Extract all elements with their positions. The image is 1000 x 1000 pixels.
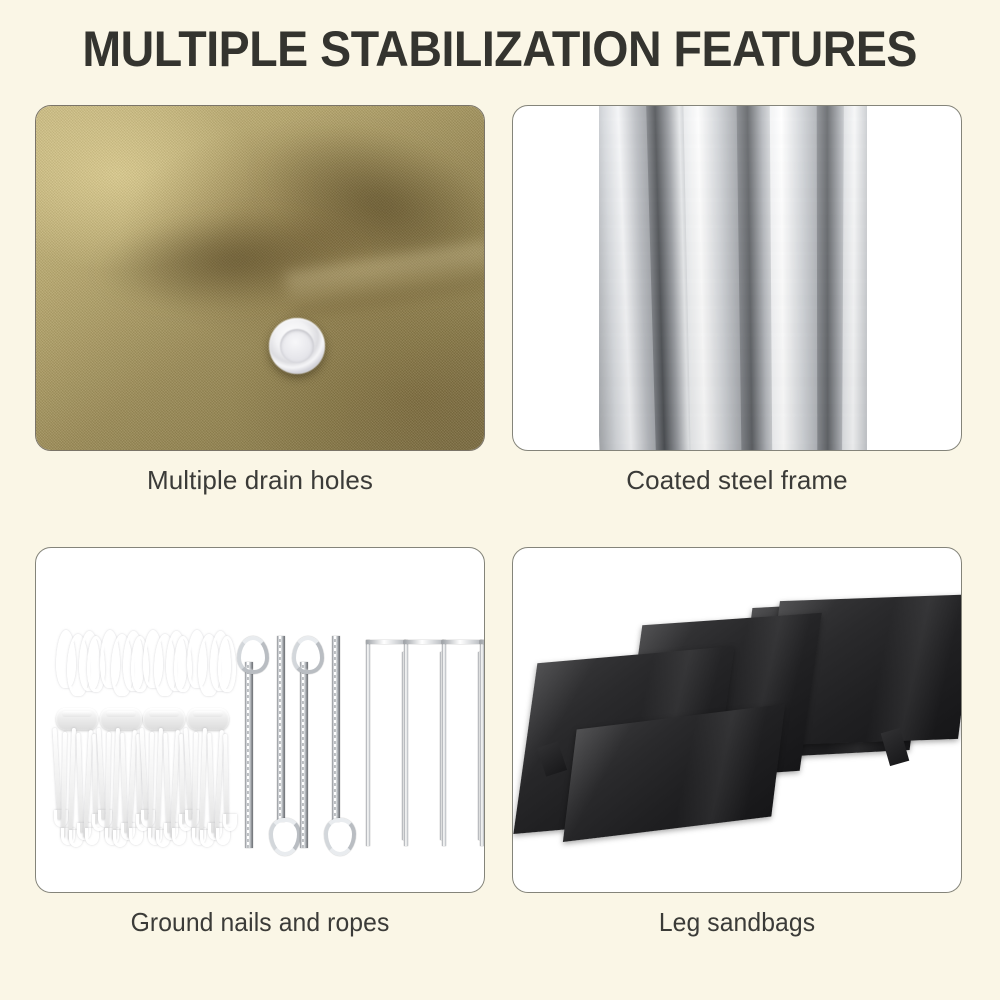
peg-top-bend [404, 640, 444, 644]
rope-strands [185, 728, 231, 846]
rope-knot [100, 708, 142, 730]
feature-cell-ground-nails-ropes: Ground nails and ropes [35, 547, 485, 938]
peg-top-bend [442, 640, 482, 644]
feature-cell-steel-frame: Coated steel frame [512, 105, 962, 496]
wire-peg [480, 640, 485, 846]
caption-drain-holes: Multiple drain holes [35, 465, 485, 496]
stake-eyelet [324, 818, 356, 856]
ground-stake [291, 636, 317, 848]
rope-bundle [185, 630, 231, 850]
rope-loops [54, 630, 100, 710]
rope-bundle [54, 630, 100, 850]
stake-shaft [277, 636, 285, 822]
wire-peg [404, 640, 444, 846]
caption-leg-sandbags: Leg sandbags [523, 907, 951, 938]
page-title: MULTIPLE STABILIZATION FEATURES [83, 20, 918, 78]
peg-top-bend [366, 640, 406, 644]
peg-long-leg [366, 640, 370, 846]
hardware-kit-group [36, 548, 484, 892]
feature-grid: Multiple drain holes Coated steel frame … [0, 100, 1000, 1000]
stake-shaft [332, 636, 340, 822]
stake-eyelet [237, 636, 269, 674]
peg-long-leg [404, 640, 408, 846]
steel-frame-photo [512, 105, 962, 451]
rope-knot [143, 708, 185, 730]
page-title-bar: MULTIPLE STABILIZATION FEATURES [0, 20, 1000, 78]
wire-peg [442, 640, 482, 846]
rope-knot [56, 708, 98, 730]
ground-stake [323, 636, 349, 848]
rope-strands [141, 728, 187, 846]
rope-loops [185, 630, 231, 710]
rope-strands [54, 728, 100, 846]
peg-long-leg [480, 640, 484, 846]
rope-bundle [98, 630, 144, 850]
ground-stake [236, 636, 262, 848]
feature-cell-leg-sandbags: Leg sandbags [512, 547, 962, 938]
peg-long-leg [442, 640, 446, 846]
caption-ground-nails-ropes: Ground nails and ropes [46, 907, 474, 938]
drain-grommet-icon [269, 318, 325, 374]
rope-strands [98, 728, 144, 846]
rope-loops [141, 630, 187, 710]
feature-cell-drain-holes: Multiple drain holes [35, 105, 485, 496]
stake-shaft [245, 662, 253, 848]
steel-tube-group [599, 105, 867, 451]
leg-sandbags-photo [512, 547, 962, 893]
tube-specular-overlay [599, 105, 867, 451]
wire-peg [366, 640, 406, 846]
stake-shaft [300, 662, 308, 848]
caption-steel-frame: Coated steel frame [512, 465, 962, 496]
ground-nails-ropes-photo [35, 547, 485, 893]
stake-eyelet [292, 636, 324, 674]
rope-loops [98, 630, 144, 710]
rope-bundle [141, 630, 187, 850]
rope-knot [187, 708, 229, 730]
peg-top-bend [480, 640, 485, 644]
drain-holes-photo [35, 105, 485, 451]
sandbag-group [513, 548, 961, 892]
